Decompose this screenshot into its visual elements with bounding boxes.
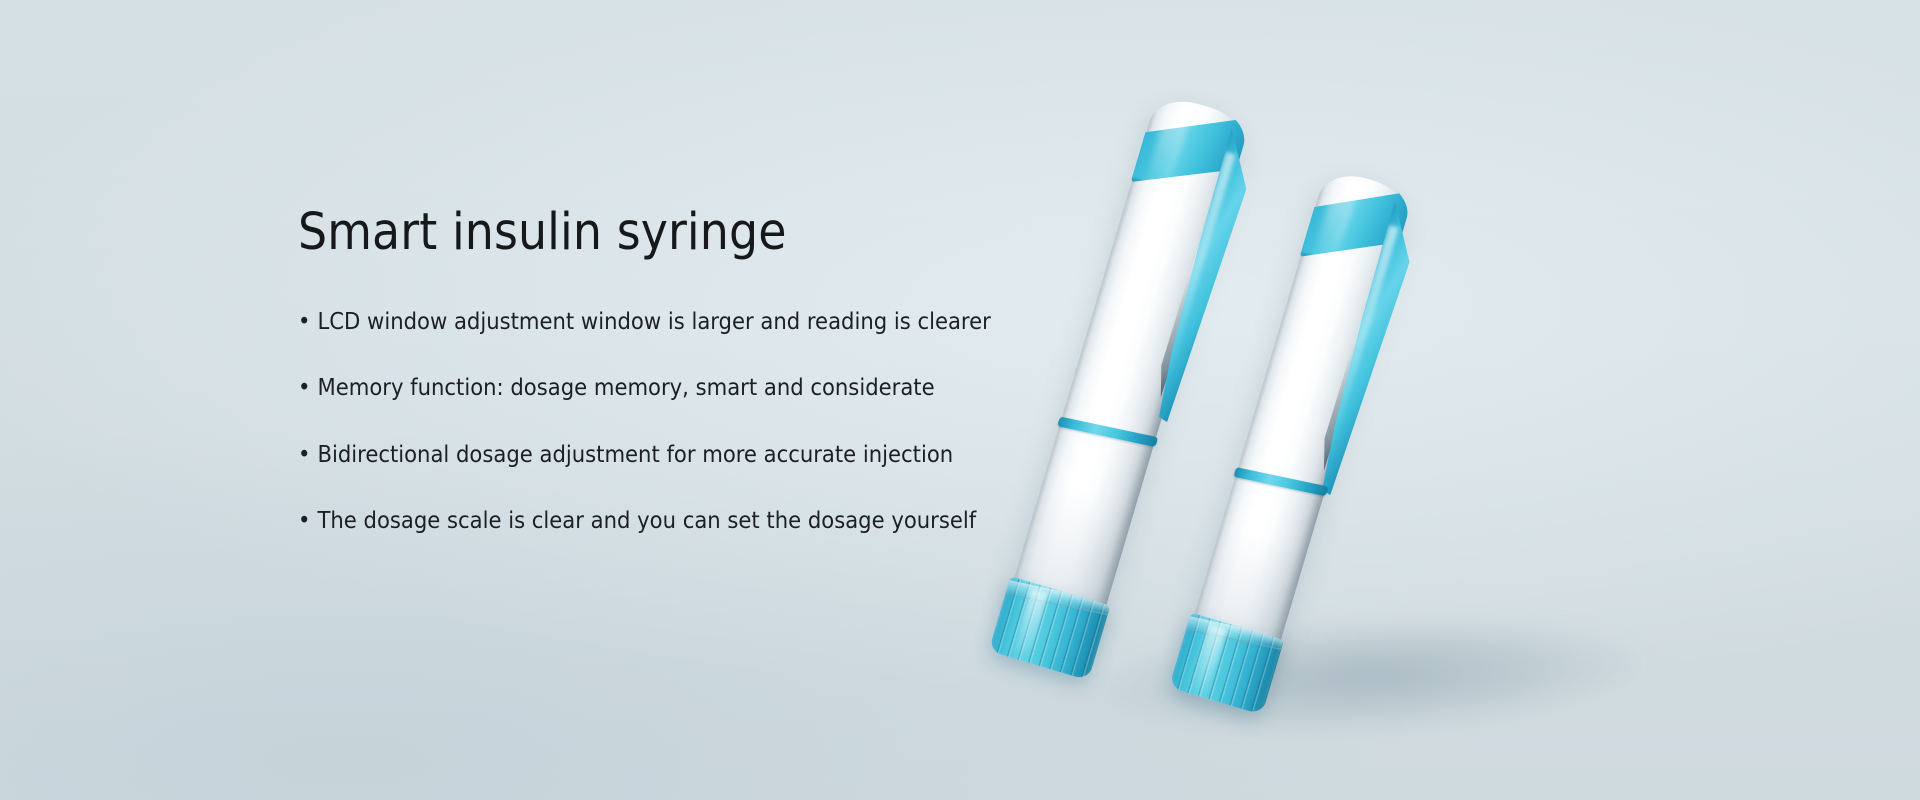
product-image [1040,60,1760,760]
feature-bullet-1: • LCD window adjustment window is larger… [298,307,1058,336]
bullet-marker-icon: • [298,443,310,467]
bullet-marker-icon: • [298,376,310,400]
bullet-marker-icon: • [298,310,310,334]
feature-bullet-3-text: Bidirectional dosage adjustment for more… [317,440,953,469]
feature-bullet-1-text: LCD window adjustment window is larger a… [317,307,990,336]
feature-bullet-4-text: The dosage scale is clear and you can se… [317,506,976,535]
feature-bullet-2-text: Memory function: dosage memory, smart an… [317,373,934,402]
banner-stage: Smart insulin syringe • LCD window adjus… [0,0,1920,800]
feature-bullet-2: • Memory function: dosage memory, smart … [298,373,1058,402]
page-title: Smart insulin syringe [298,205,1058,261]
feature-bullet-3: • Bidirectional dosage adjustment for mo… [298,440,1058,469]
bullet-marker-icon: • [298,509,310,533]
copy-block: Smart insulin syringe • LCD window adjus… [298,205,1058,536]
feature-bullet-4: • The dosage scale is clear and you can … [298,506,1058,535]
